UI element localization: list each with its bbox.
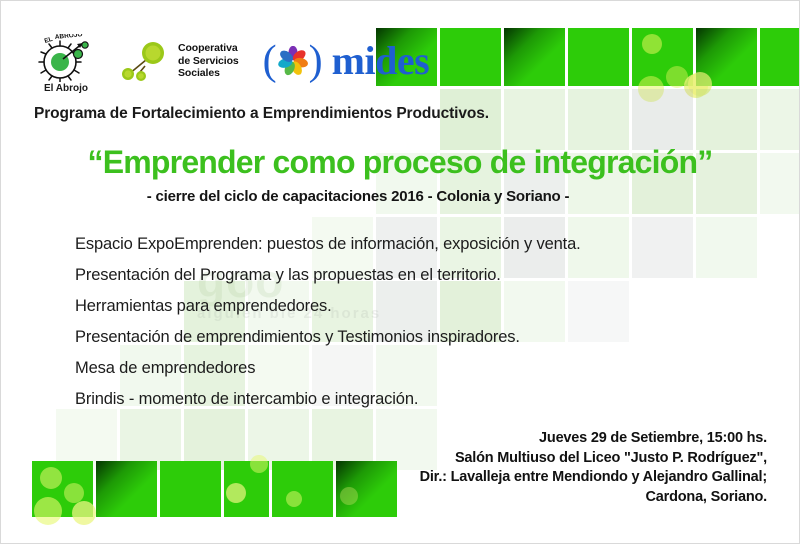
event-detail-line: Cardona, Soriano. [420, 488, 767, 508]
abrojo-burr-icon: EL ABROJO [33, 34, 99, 82]
logo-el-abrojo: EL ABROJO El Abrojo [29, 28, 103, 94]
event-detail-line: Jueves 29 de Setiembre, 15:00 hs. [420, 429, 767, 449]
mides-pinwheel-icon [278, 46, 308, 76]
sunflower-icon [121, 38, 173, 84]
event-detail-line: Salón Multiuso del Liceo "Justo P. Rodrí… [420, 449, 767, 469]
agenda-list: Espacio ExpoEmprenden: puestos de inform… [75, 229, 715, 415]
logo-mides: ( ) mides [263, 33, 430, 89]
agenda-item: Herramientas para emprendedores. [75, 291, 715, 322]
agenda-item: Presentación de emprendimientos y Testim… [75, 322, 715, 353]
logo-cooperativa: Cooperativa de Servicios Sociales [121, 33, 239, 89]
event-detail-line: Dir.: Lavalleja entre Mendiondo y Alejan… [420, 468, 767, 488]
event-details: Jueves 29 de Setiembre, 15:00 hs.Salón M… [420, 429, 767, 507]
agenda-item: Mesa de emprendedores [75, 353, 715, 384]
svg-text:ABROJO: ABROJO [54, 34, 82, 41]
agenda-item: Presentación del Programa y las propuest… [75, 260, 715, 291]
cooperativa-line-3: Sociales [178, 67, 239, 80]
mides-paren-close: ) [309, 42, 323, 80]
poster-canvas: goo alguien ble 24 horas [0, 0, 800, 544]
svg-text:EL: EL [44, 36, 54, 45]
page-title: “Emprender como proceso de integración” [1, 144, 799, 181]
mides-wordmark: mides [332, 41, 430, 81]
poster-content: EL ABROJO El Abrojo [1, 1, 799, 543]
program-line: Programa de Fortalecimiento a Emprendimi… [34, 105, 489, 123]
logo-bar: EL ABROJO El Abrojo [29, 27, 429, 95]
mides-paren-open: ( [263, 42, 277, 80]
cooperativa-wordmark: Cooperativa de Servicios Sociales [178, 42, 239, 80]
agenda-item: Espacio ExpoEmprenden: puestos de inform… [75, 229, 715, 260]
abrojo-label: El Abrojo [44, 83, 88, 94]
agenda-item: Brindis - momento de intercambio e integ… [75, 384, 715, 415]
page-subtitle: - cierre del ciclo de capacitaciones 201… [1, 188, 799, 205]
cooperativa-line-2: de Servicios [178, 55, 239, 68]
cooperativa-line-1: Cooperativa [178, 42, 239, 55]
